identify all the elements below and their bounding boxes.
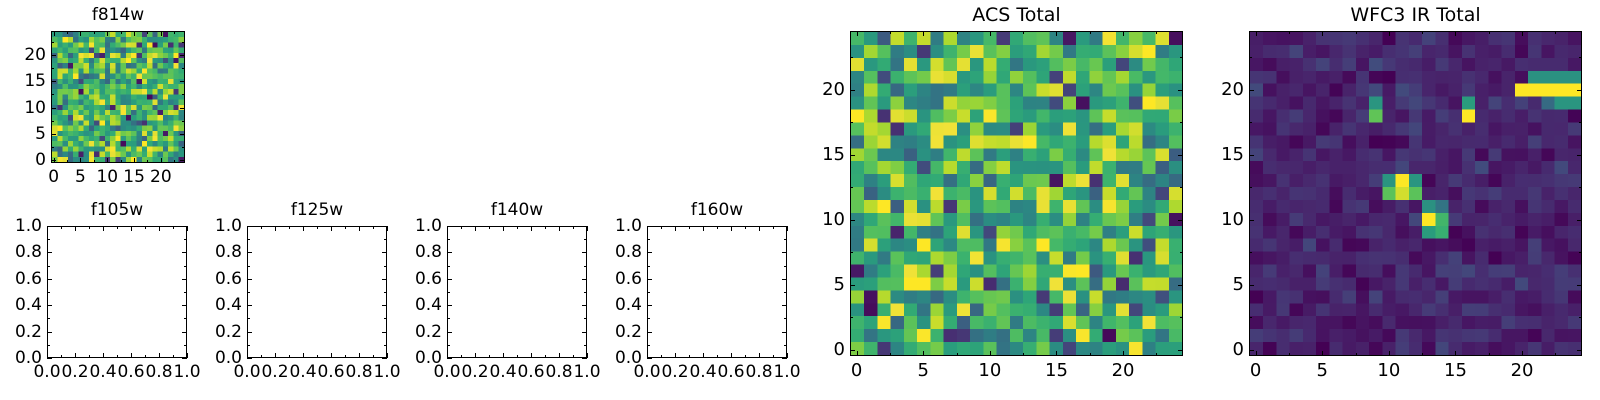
- axis-tick: [387, 353, 388, 358]
- f814w-heatmap-image: [52, 32, 184, 162]
- x-tick-label: 20: [1496, 360, 1548, 381]
- axis-tick: [1180, 252, 1183, 253]
- axis-tick: [1249, 350, 1254, 351]
- axis-tick: [67, 160, 68, 163]
- panel-f140w-axes: [447, 226, 587, 358]
- axis-tick: [1579, 57, 1582, 58]
- axis-tick: [147, 31, 148, 34]
- axis-tick: [1090, 31, 1091, 34]
- panel-f140w-title: f140w: [447, 200, 587, 220]
- axis-tick: [247, 239, 250, 240]
- axis-tick: [51, 160, 56, 161]
- axis-tick: [782, 226, 787, 227]
- axis-tick: [850, 285, 855, 286]
- axis-tick: [890, 31, 891, 34]
- axis-tick: [47, 252, 52, 253]
- y-tick-label: 0.6: [602, 269, 642, 289]
- axis-tick: [275, 226, 276, 231]
- axis-tick: [47, 345, 50, 346]
- axis-tick: [584, 266, 587, 267]
- axis-tick: [261, 226, 262, 229]
- y-tick-label: 0.6: [402, 269, 442, 289]
- axis-tick: [517, 226, 518, 229]
- axis-tick: [782, 305, 787, 306]
- axis-tick: [850, 317, 853, 318]
- y-tick-label: 0.4: [402, 295, 442, 315]
- axis-tick: [703, 226, 704, 231]
- axis-tick: [675, 353, 676, 358]
- axis-tick: [247, 292, 250, 293]
- axis-tick: [850, 57, 853, 58]
- axis-tick: [1356, 353, 1357, 356]
- axis-tick: [782, 252, 787, 253]
- axis-tick: [647, 332, 652, 333]
- axis-tick: [1577, 90, 1582, 91]
- x-tick-label: 20: [135, 167, 187, 187]
- axis-tick: [75, 226, 76, 231]
- axis-tick: [80, 158, 81, 163]
- axis-tick: [51, 94, 54, 95]
- axis-tick: [784, 239, 787, 240]
- axis-tick: [384, 239, 387, 240]
- axis-tick: [94, 31, 95, 34]
- axis-tick: [359, 226, 360, 231]
- axis-tick: [180, 81, 185, 82]
- axis-tick: [584, 345, 587, 346]
- x-tick-label: 0: [1230, 360, 1282, 381]
- axis-tick: [1056, 351, 1057, 356]
- y-tick-label: 0.8: [602, 242, 642, 262]
- axis-tick: [1577, 155, 1582, 156]
- y-tick-label: 0.8: [202, 242, 242, 262]
- axis-tick: [717, 355, 718, 358]
- axis-tick: [717, 226, 718, 229]
- axis-tick: [182, 121, 185, 122]
- axis-tick: [121, 160, 122, 163]
- axis-tick: [923, 31, 924, 36]
- axis-tick: [382, 226, 387, 227]
- axis-tick: [180, 55, 185, 56]
- axis-tick: [1389, 351, 1390, 356]
- axis-tick: [647, 345, 650, 346]
- y-tick-label: 0: [801, 339, 845, 360]
- axis-tick: [345, 226, 346, 229]
- axis-tick: [447, 226, 452, 227]
- axis-tick: [182, 305, 187, 306]
- axis-tick: [689, 226, 690, 229]
- y-tick-label: 15: [6, 71, 46, 91]
- axis-tick: [107, 31, 108, 36]
- axis-tick: [661, 355, 662, 358]
- axis-tick: [647, 239, 650, 240]
- axis-tick: [51, 68, 54, 69]
- axis-tick: [184, 345, 187, 346]
- axis-tick: [382, 358, 387, 359]
- y-tick-label: 10: [1200, 209, 1244, 230]
- x-tick-label: 15: [1030, 360, 1082, 381]
- y-tick-label: 0.2: [2, 322, 42, 342]
- axis-tick: [182, 332, 187, 333]
- axis-tick: [1249, 317, 1252, 318]
- axis-tick: [784, 266, 787, 267]
- y-tick-label: 0.2: [402, 322, 442, 342]
- y-tick-label: 15: [801, 144, 845, 165]
- axis-tick: [67, 31, 68, 34]
- x-tick-label: 0: [831, 360, 883, 381]
- axis-tick: [503, 353, 504, 358]
- axis-tick: [1322, 351, 1323, 356]
- axis-tick: [447, 292, 450, 293]
- axis-tick: [261, 355, 262, 358]
- axis-tick: [174, 160, 175, 163]
- axis-tick: [661, 226, 662, 229]
- panel-wfc3-ir-total-axes: [1249, 31, 1582, 356]
- axis-tick: [47, 266, 50, 267]
- axis-tick: [47, 358, 52, 359]
- axis-tick: [184, 318, 187, 319]
- axis-tick: [117, 355, 118, 358]
- axis-tick: [47, 292, 50, 293]
- axis-tick: [1056, 31, 1057, 36]
- axis-tick: [1180, 57, 1183, 58]
- panel-f125w-title: f125w: [247, 200, 387, 220]
- axis-tick: [573, 226, 574, 229]
- panel-f814w-axes: [51, 31, 185, 163]
- x-tick-label: 10: [1363, 360, 1415, 381]
- axis-tick: [759, 226, 760, 231]
- axis-tick: [447, 252, 452, 253]
- x-tick-label: 20: [1097, 360, 1149, 381]
- axis-tick: [47, 318, 50, 319]
- axis-tick: [247, 266, 250, 267]
- axis-tick: [957, 31, 958, 34]
- axis-tick: [582, 252, 587, 253]
- axis-tick: [373, 226, 374, 229]
- axis-tick: [187, 353, 188, 358]
- axis-tick: [51, 81, 56, 82]
- axis-tick: [103, 353, 104, 358]
- y-tick-label: 20: [1200, 79, 1244, 100]
- y-tick-label: 0.4: [202, 295, 242, 315]
- axis-tick: [731, 226, 732, 231]
- axis-tick: [890, 353, 891, 356]
- axis-tick: [461, 226, 462, 229]
- axis-tick: [51, 108, 56, 109]
- axis-tick: [1249, 285, 1254, 286]
- axis-tick: [517, 355, 518, 358]
- y-tick-label: 0.8: [402, 242, 442, 262]
- axis-tick: [647, 318, 650, 319]
- axis-tick: [850, 122, 853, 123]
- y-tick-label: 0: [1200, 339, 1244, 360]
- axis-tick: [1156, 31, 1157, 34]
- axis-tick: [782, 279, 787, 280]
- axis-tick: [51, 134, 56, 135]
- axis-tick: [184, 292, 187, 293]
- axis-tick: [990, 31, 991, 36]
- axis-tick: [531, 353, 532, 358]
- axis-tick: [773, 226, 774, 229]
- axis-tick: [857, 31, 858, 36]
- axis-tick: [1249, 220, 1254, 221]
- axis-tick: [145, 355, 146, 358]
- axis-tick: [1579, 187, 1582, 188]
- axis-tick: [303, 226, 304, 231]
- axis-tick: [182, 94, 185, 95]
- axis-tick: [1489, 353, 1490, 356]
- axis-tick: [784, 292, 787, 293]
- axis-tick: [51, 55, 56, 56]
- axis-tick: [1123, 31, 1124, 36]
- y-tick-label: 20: [801, 79, 845, 100]
- axis-tick: [373, 355, 374, 358]
- y-tick-label: 0: [6, 150, 46, 170]
- panel-f105w-axes: [47, 226, 187, 358]
- axis-tick: [1023, 353, 1024, 356]
- axis-tick: [531, 226, 532, 231]
- axis-tick: [382, 279, 387, 280]
- axis-tick: [345, 355, 346, 358]
- axis-tick: [187, 226, 188, 231]
- axis-tick: [1555, 353, 1556, 356]
- axis-tick: [1577, 285, 1582, 286]
- axis-tick: [503, 226, 504, 231]
- axis-tick: [647, 252, 652, 253]
- y-tick-label: 0.0: [602, 348, 642, 368]
- y-tick-label: 1.0: [402, 216, 442, 236]
- axis-tick: [247, 305, 252, 306]
- axis-tick: [647, 226, 652, 227]
- axis-tick: [850, 220, 855, 221]
- axis-tick: [161, 158, 162, 163]
- axis-tick: [489, 226, 490, 229]
- axis-tick: [134, 31, 135, 36]
- panel-acs-total-axes: [850, 31, 1183, 356]
- panel-f814w-title: f814w: [51, 5, 185, 25]
- axis-tick: [545, 355, 546, 358]
- axis-tick: [182, 42, 185, 43]
- axis-tick: [1389, 31, 1390, 36]
- axis-tick: [384, 266, 387, 267]
- axis-tick: [447, 305, 452, 306]
- axis-tick: [703, 353, 704, 358]
- axis-tick: [647, 279, 652, 280]
- axis-tick: [131, 226, 132, 231]
- y-tick-label: 0.6: [2, 269, 42, 289]
- axis-tick: [51, 121, 54, 122]
- y-tick-label: 15: [1200, 144, 1244, 165]
- axis-tick: [584, 318, 587, 319]
- y-tick-label: 1.0: [2, 216, 42, 236]
- axis-tick: [247, 279, 252, 280]
- axis-tick: [1178, 220, 1183, 221]
- axis-tick: [857, 351, 858, 356]
- axis-tick: [1289, 353, 1290, 356]
- axis-tick: [1579, 317, 1582, 318]
- axis-tick: [180, 160, 185, 161]
- axis-tick: [584, 239, 587, 240]
- y-tick-label: 1.0: [202, 216, 242, 236]
- y-tick-label: 5: [1200, 274, 1244, 295]
- axis-tick: [289, 355, 290, 358]
- axis-tick: [159, 226, 160, 231]
- axis-tick: [182, 68, 185, 69]
- axis-tick: [1422, 31, 1423, 34]
- axis-tick: [1178, 285, 1183, 286]
- axis-tick: [47, 239, 50, 240]
- axis-tick: [675, 226, 676, 231]
- axis-tick: [647, 266, 650, 267]
- axis-tick: [80, 31, 81, 36]
- axis-tick: [1579, 122, 1582, 123]
- axis-tick: [559, 226, 560, 231]
- y-tick-label: 10: [801, 209, 845, 230]
- axis-tick: [359, 353, 360, 358]
- axis-tick: [161, 31, 162, 36]
- axis-tick: [475, 353, 476, 358]
- axis-tick: [447, 358, 452, 359]
- y-tick-label: 5: [801, 274, 845, 295]
- axis-tick: [180, 108, 185, 109]
- x-tick-label: 10: [964, 360, 1016, 381]
- axis-tick: [1289, 31, 1290, 34]
- axis-tick: [1090, 353, 1091, 356]
- axis-tick: [54, 31, 55, 36]
- panel-wfc3-ir-total-title: WFC3 IR Total: [1249, 4, 1582, 26]
- panel-f160w-axes: [647, 226, 787, 358]
- axis-tick: [582, 332, 587, 333]
- axis-tick: [1555, 31, 1556, 34]
- axis-tick: [1522, 31, 1523, 36]
- axis-tick: [447, 239, 450, 240]
- axis-tick: [1422, 353, 1423, 356]
- acs-total-heatmap-image: [851, 32, 1182, 355]
- axis-tick: [850, 187, 853, 188]
- axis-tick: [1178, 155, 1183, 156]
- axis-tick: [184, 266, 187, 267]
- y-tick-label: 0.0: [402, 348, 442, 368]
- axis-tick: [182, 358, 187, 359]
- axis-tick: [447, 318, 450, 319]
- x-tick-label: 5: [897, 360, 949, 381]
- y-tick-label: 0.4: [2, 295, 42, 315]
- axis-tick: [1256, 351, 1257, 356]
- axis-tick: [247, 358, 252, 359]
- axis-tick: [587, 226, 588, 231]
- axis-tick: [180, 134, 185, 135]
- figure-canvas: f814w 0510152005101520 f105w 0.00.20.40.…: [0, 0, 1600, 400]
- panel-acs-total-title: ACS Total: [850, 4, 1183, 26]
- axis-tick: [582, 305, 587, 306]
- axis-tick: [784, 318, 787, 319]
- axis-tick: [47, 226, 52, 227]
- axis-tick: [957, 353, 958, 356]
- axis-tick: [384, 345, 387, 346]
- panel-f125w-axes: [247, 226, 387, 358]
- axis-tick: [1249, 252, 1252, 253]
- axis-tick: [689, 355, 690, 358]
- axis-tick: [923, 351, 924, 356]
- x-tick-label: 1.0: [761, 362, 813, 382]
- axis-tick: [787, 353, 788, 358]
- axis-tick: [147, 160, 148, 163]
- axis-tick: [173, 226, 174, 229]
- y-tick-label: 0.0: [202, 348, 242, 368]
- wfc3-ir-total-heatmap-image: [1250, 32, 1581, 355]
- axis-tick: [782, 358, 787, 359]
- axis-tick: [174, 31, 175, 34]
- axis-tick: [1249, 122, 1252, 123]
- y-tick-label: 0.2: [202, 322, 242, 342]
- axis-tick: [134, 158, 135, 163]
- x-tick-label: 5: [1296, 360, 1348, 381]
- panel-f160w-title: f160w: [647, 200, 787, 220]
- axis-tick: [1023, 31, 1024, 34]
- axis-tick: [51, 147, 54, 148]
- axis-tick: [1577, 220, 1582, 221]
- axis-tick: [545, 226, 546, 229]
- axis-tick: [1455, 351, 1456, 356]
- axis-tick: [331, 226, 332, 231]
- axis-tick: [787, 226, 788, 231]
- axis-tick: [94, 160, 95, 163]
- axis-tick: [731, 353, 732, 358]
- axis-tick: [587, 353, 588, 358]
- axis-tick: [103, 226, 104, 231]
- axis-tick: [75, 353, 76, 358]
- axis-tick: [145, 226, 146, 229]
- axis-tick: [447, 266, 450, 267]
- axis-tick: [582, 226, 587, 227]
- axis-tick: [387, 226, 388, 231]
- axis-tick: [89, 355, 90, 358]
- axis-tick: [1577, 350, 1582, 351]
- axis-tick: [1180, 187, 1183, 188]
- y-tick-label: 0.2: [602, 322, 642, 342]
- axis-tick: [331, 353, 332, 358]
- axis-tick: [647, 305, 652, 306]
- axis-tick: [182, 279, 187, 280]
- x-tick-label: 15: [1429, 360, 1481, 381]
- axis-tick: [1180, 122, 1183, 123]
- axis-tick: [384, 318, 387, 319]
- axis-tick: [573, 355, 574, 358]
- axis-tick: [247, 332, 252, 333]
- axis-tick: [475, 226, 476, 231]
- axis-tick: [1455, 31, 1456, 36]
- y-tick-label: 20: [6, 45, 46, 65]
- axis-tick: [850, 252, 853, 253]
- axis-tick: [773, 355, 774, 358]
- axis-tick: [1123, 351, 1124, 356]
- axis-tick: [1249, 57, 1252, 58]
- axis-tick: [184, 239, 187, 240]
- axis-tick: [1579, 252, 1582, 253]
- y-tick-label: 0.8: [2, 242, 42, 262]
- axis-tick: [447, 345, 450, 346]
- axis-tick: [1322, 31, 1323, 36]
- axis-tick: [850, 90, 855, 91]
- axis-tick: [582, 279, 587, 280]
- axis-tick: [317, 226, 318, 229]
- y-tick-label: 0.0: [2, 348, 42, 368]
- axis-tick: [275, 353, 276, 358]
- axis-tick: [461, 355, 462, 358]
- y-tick-label: 0.6: [202, 269, 242, 289]
- axis-tick: [990, 351, 991, 356]
- axis-tick: [289, 226, 290, 229]
- y-tick-label: 5: [6, 124, 46, 144]
